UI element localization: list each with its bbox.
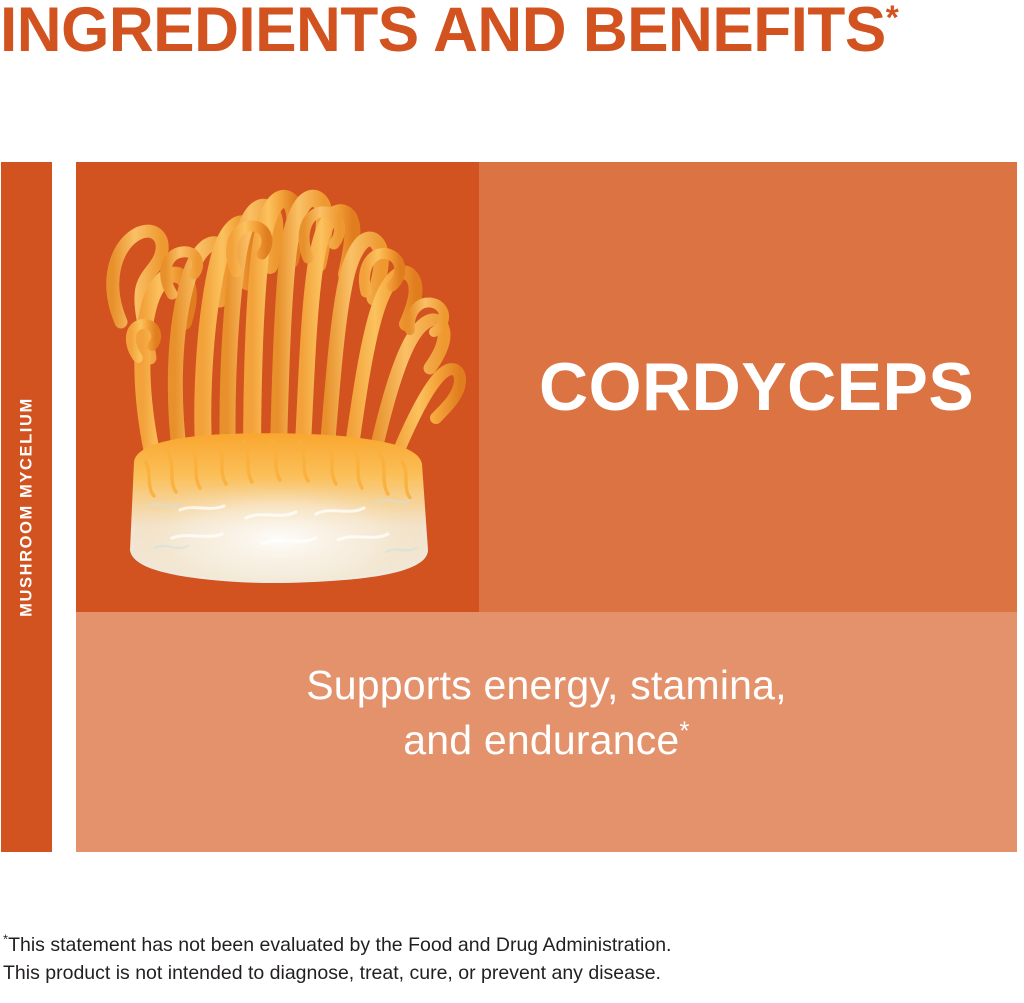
benefit-asterisk: * bbox=[679, 715, 689, 745]
ingredient-card-top: CORDYCEPS bbox=[76, 162, 1017, 612]
benefit-line-2: and endurance bbox=[403, 717, 679, 763]
ingredient-name: CORDYCEPS bbox=[539, 353, 974, 421]
ingredients-benefits-panel: INGREDIENTS AND BENEFITS* MUSHROOM MYCEL… bbox=[0, 0, 1024, 1003]
category-bar: MUSHROOM MYCELIUM bbox=[1, 162, 52, 852]
ingredient-card: CORDYCEPS Supports energy, stamina,and e… bbox=[76, 162, 1017, 852]
disclaimer-line-1-text: This statement has not been evaluated by… bbox=[8, 934, 671, 956]
page-title: INGREDIENTS AND BENEFITS* bbox=[0, 0, 1009, 66]
ingredient-benefit-panel: Supports energy, stamina,and endurance* bbox=[76, 612, 1017, 852]
disclaimer: *This statement has not been evaluated b… bbox=[3, 931, 903, 987]
disclaimer-line-2: This product is not intended to diagnose… bbox=[3, 959, 903, 987]
page-title-text: INGREDIENTS AND BENEFITS bbox=[0, 0, 886, 65]
ingredient-name-panel: CORDYCEPS bbox=[479, 162, 1017, 612]
ingredient-photo-panel bbox=[76, 162, 479, 612]
page-title-asterisk: * bbox=[886, 0, 899, 37]
disclaimer-line-1: *This statement has not been evaluated b… bbox=[3, 931, 903, 959]
benefit-line-1: Supports energy, stamina, bbox=[306, 662, 787, 708]
category-bar-label: MUSHROOM MYCELIUM bbox=[17, 397, 36, 617]
cordyceps-mushroom-photo bbox=[76, 162, 479, 612]
ingredient-benefit-text: Supports energy, stamina,and endurance* bbox=[306, 658, 787, 768]
